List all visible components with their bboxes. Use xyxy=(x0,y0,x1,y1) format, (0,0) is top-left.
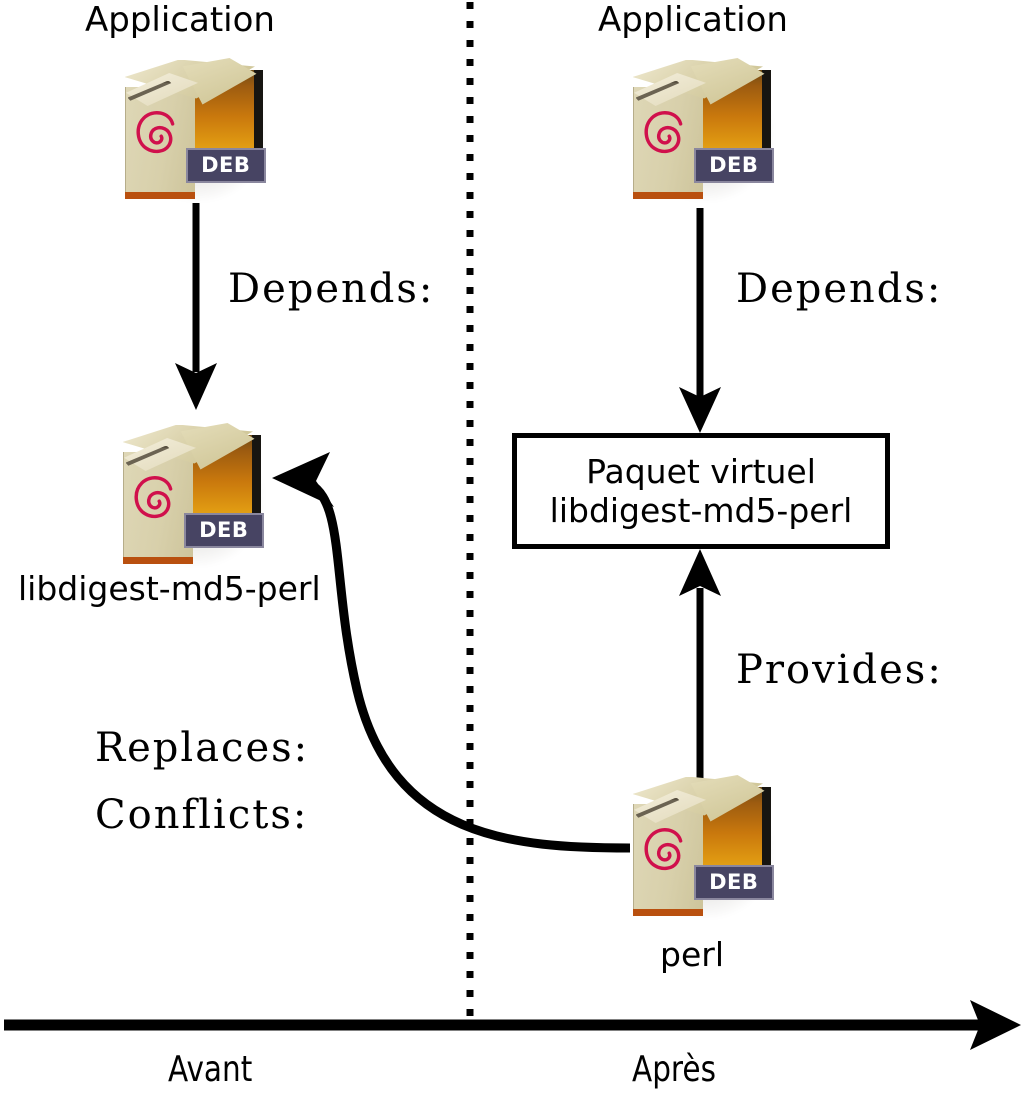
arrow-provides xyxy=(679,549,721,782)
virtual-package-line1: Paquet virtuel xyxy=(586,452,816,491)
package-bottom-edge xyxy=(633,192,704,200)
virtual-package-line2: libdigest-md5-perl xyxy=(550,491,853,530)
package-icon-perl: DEB xyxy=(628,772,778,922)
relation-label-depends-right: Depends: xyxy=(736,269,942,309)
virtual-package-box: Paquet virtuel libdigest-md5-perl xyxy=(512,433,890,549)
timeline-axis xyxy=(4,1000,1021,1050)
relation-label-depends-left: Depends: xyxy=(228,269,434,309)
package-icon-app-before: DEB xyxy=(120,55,270,205)
relation-label-provides: Provides: xyxy=(736,650,943,690)
debian-swirl-icon xyxy=(134,105,184,167)
deb-badge: DEB xyxy=(186,148,266,183)
deb-badge: DEB xyxy=(694,865,774,900)
deb-badge: DEB xyxy=(184,513,264,548)
timeline-label-after: Après xyxy=(632,1052,716,1088)
relation-label-conflicts: Conflicts: xyxy=(95,795,308,835)
relation-label-replaces: Replaces: xyxy=(95,728,309,768)
heading-application-after: Application xyxy=(598,3,788,37)
timeline-label-before: Avant xyxy=(168,1052,252,1088)
package-label-libdigest-md5-perl: libdigest-md5-perl xyxy=(18,572,321,605)
heading-application-before: Application xyxy=(85,3,275,37)
package-bottom-edge xyxy=(633,909,704,917)
diagram-canvas: Application Application DEB DEB xyxy=(0,0,1024,1094)
arrow-depends-right xyxy=(679,208,721,433)
package-icon-app-after: DEB xyxy=(628,55,778,205)
package-label-perl: perl xyxy=(660,938,724,971)
package-bottom-edge xyxy=(123,557,194,565)
package-bottom-edge xyxy=(125,192,196,200)
debian-swirl-icon xyxy=(642,105,692,167)
deb-badge: DEB xyxy=(694,148,774,183)
arrow-depends-left xyxy=(175,203,217,410)
package-icon-libdigest-md5-perl: DEB xyxy=(118,420,268,570)
debian-swirl-icon xyxy=(642,822,692,884)
debian-swirl-icon xyxy=(132,470,182,532)
